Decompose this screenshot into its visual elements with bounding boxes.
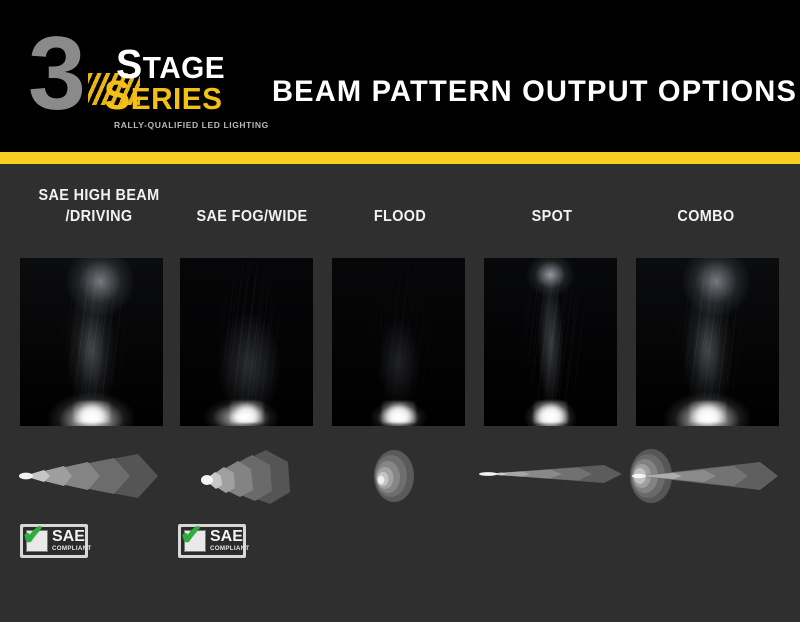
logo-word-stage: STAGE — [116, 49, 225, 83]
page-title: BEAM PATTERN OUTPUT OPTIONS — [272, 76, 797, 108]
beam-diagram-spot — [478, 452, 628, 496]
sae-compliant-badge-fog-wide: ✔ SAE COMPLIANT — [178, 524, 246, 558]
beam-layers — [479, 465, 622, 483]
beam-pattern-output-options-page: 3 STAGE SERIES RALLY-QUALIFIED LED LIGHT… — [0, 0, 800, 622]
beam-diagram-sae-high-beam-driving — [18, 446, 168, 506]
beam-svg-fog-wide — [196, 444, 314, 508]
beam-svg-flood — [372, 444, 432, 508]
badge-line-compliant: COMPLIANT — [210, 545, 249, 553]
beam-diagram-flood — [372, 444, 432, 508]
beam-photo-combo — [636, 258, 779, 426]
beam-photo-spot — [484, 258, 617, 426]
beam-layers — [201, 450, 290, 504]
column-label-sae-high-beam-driving: SAE HIGH BEAM /DRIVING — [20, 185, 178, 227]
photo-hotspot — [229, 401, 264, 423]
logo-tagline: RALLY-QUALIFIED LED LIGHTING — [114, 120, 269, 130]
check-icon: ✔ — [180, 522, 203, 549]
badge-inner: ✔ SAE COMPLIANT — [181, 527, 243, 555]
photo-hotspot — [381, 401, 416, 423]
logo-numeral-3: 3 — [28, 22, 82, 126]
beam-origin-hotspot — [378, 476, 385, 484]
beam-layers — [19, 454, 158, 498]
badge-line-sae: SAE — [52, 529, 91, 544]
column-label-spot: SPOT — [487, 206, 617, 227]
check-icon: ✔ — [22, 522, 45, 549]
beam-diagram-sae-fog-wide — [196, 444, 314, 508]
beam-diagram-combo — [626, 444, 786, 508]
column-label-combo: COMBO — [637, 206, 775, 227]
badge-text: SAE COMPLIANT — [210, 529, 249, 553]
beam-origin-hotspot — [201, 475, 213, 485]
beam-photo-sae-high-beam-driving — [20, 258, 163, 426]
badge-line-sae: SAE — [210, 529, 249, 544]
logo-series-cap: S — [104, 72, 131, 118]
stage-series-logo: 3 STAGE SERIES RALLY-QUALIFIED LED LIGHT… — [28, 24, 243, 132]
column-label-line1: SAE HIGH BEAM — [39, 187, 160, 204]
photo-hotspot — [689, 401, 726, 423]
logo-word-series: SERIES — [104, 80, 222, 114]
badge-inner: ✔ SAE COMPLIANT — [23, 527, 85, 555]
checkbox-frame: ✔ — [26, 530, 48, 552]
beam-svg-combo — [626, 444, 786, 508]
beam-svg-spot — [478, 452, 628, 496]
column-label-line2: /DRIVING — [65, 208, 132, 225]
beam-origin-hotspot — [19, 473, 33, 480]
beam-origin-hotspot — [632, 474, 646, 478]
beam-photo-flood — [332, 258, 465, 426]
beam-layers — [374, 450, 414, 502]
photo-hotspot — [533, 401, 568, 423]
badge-line-compliant: COMPLIANT — [52, 545, 91, 553]
column-label-sae-fog-wide: SAE FOG/WIDE — [181, 206, 322, 227]
column-header-row: SAE HIGH BEAM /DRIVING SAE FOG/WIDE FLOO… — [0, 185, 800, 247]
beam-origin-hotspot — [479, 472, 497, 476]
logo-series-rest: ERIES — [131, 81, 223, 116]
badge-text: SAE COMPLIANT — [52, 529, 91, 553]
page-header: 3 STAGE SERIES RALLY-QUALIFIED LED LIGHT… — [0, 0, 800, 152]
sae-compliant-badge-driving: ✔ SAE COMPLIANT — [20, 524, 88, 558]
beam-photo-sae-fog-wide — [180, 258, 313, 426]
yellow-accent-divider — [0, 152, 800, 164]
checkbox-frame: ✔ — [184, 530, 206, 552]
photo-hotspot — [73, 401, 110, 423]
beam-svg-driving — [18, 446, 168, 506]
column-label-flood: FLOOD — [335, 206, 465, 227]
